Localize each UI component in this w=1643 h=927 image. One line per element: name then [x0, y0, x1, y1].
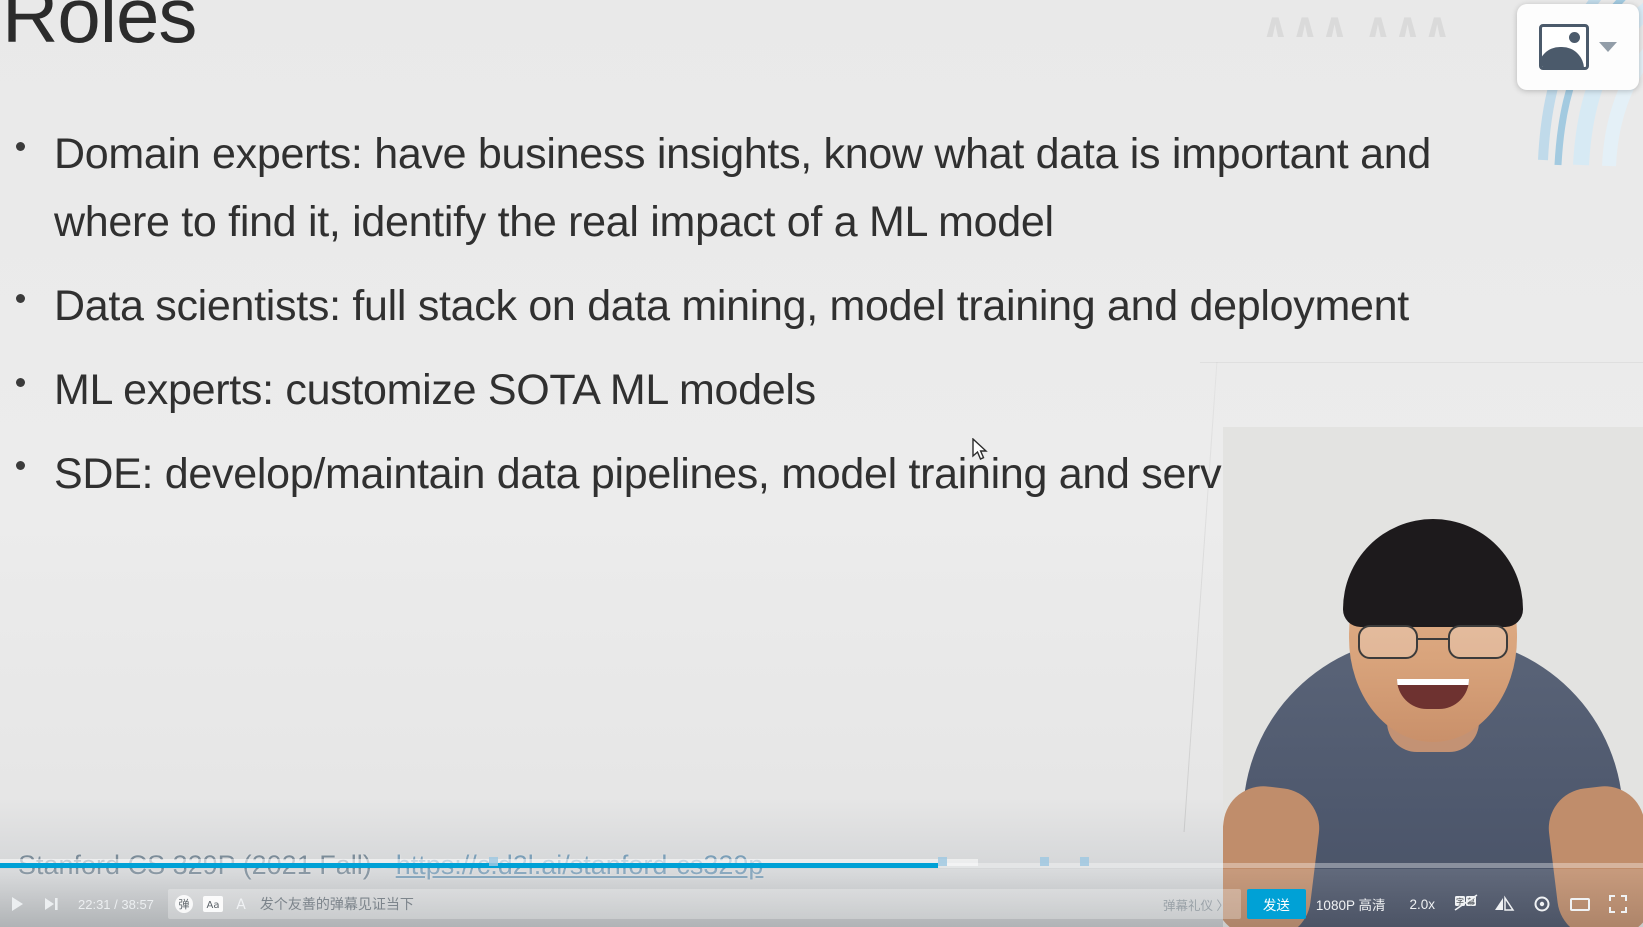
settings-button[interactable]	[1525, 881, 1559, 927]
progress-bar[interactable]	[0, 857, 1643, 869]
svg-text:弹: 弹	[178, 897, 189, 911]
fullscreen-button[interactable]	[1601, 881, 1635, 927]
chevron-down-icon[interactable]	[1599, 42, 1617, 52]
video-stage: ∧∧∧ ∧∧∧ Roles Domain experts: have busin…	[0, 0, 1643, 927]
bullet-text: Domain experts: have business insights, …	[54, 130, 1431, 246]
widescreen-button[interactable]	[1563, 881, 1597, 927]
player-controls: 22:31 / 38:57 弹 Aa A 弹幕礼仪 〉 发送 1080P 高清 …	[0, 881, 1643, 927]
list-item: Data scientists: full stack on data mini…	[8, 273, 1504, 341]
bullet-dot-icon	[16, 142, 25, 151]
image-icon-sun	[1569, 32, 1580, 43]
presenter-glasses	[1358, 625, 1508, 655]
time-display: 22:31 / 38:57	[68, 897, 162, 912]
send-danmaku-button[interactable]: 发送	[1247, 889, 1306, 919]
image-icon[interactable]	[1539, 24, 1589, 70]
bullet-text: ML experts: customize SOTA ML models	[54, 366, 816, 414]
danmaku-etiquette-link[interactable]: 弹幕礼仪 〉	[1163, 895, 1235, 914]
progress-played	[0, 863, 938, 868]
player-control-bar: 22:31 / 38:57 弹 Aa A 弹幕礼仪 〉 发送 1080P 高清 …	[0, 869, 1643, 927]
speed-selector[interactable]: 2.0x	[1399, 897, 1445, 912]
next-button[interactable]	[34, 881, 68, 927]
quality-selector[interactable]: 1080P 高清	[1306, 894, 1396, 914]
bullet-text: Data scientists: full stack on data mini…	[54, 282, 1409, 330]
list-item: Domain experts: have business insights, …	[8, 121, 1504, 257]
svg-text:Aa: Aa	[206, 900, 219, 911]
play-button[interactable]	[0, 881, 34, 927]
subtitle-toggle[interactable]: 字 幕	[1449, 881, 1483, 927]
danmaku-marker	[489, 857, 498, 866]
bullet-dot-icon	[16, 378, 25, 387]
image-icon-hill	[1539, 47, 1584, 69]
page-title: Roles	[0, 0, 1530, 49]
danmaku-marker	[938, 857, 947, 866]
mirror-toggle[interactable]	[1487, 881, 1521, 927]
bullet-dot-icon	[16, 461, 25, 470]
svg-text:A: A	[236, 897, 246, 913]
player-right-controls: 1080P 高清 2.0x 字 幕	[1306, 881, 1643, 927]
presenter-video	[1223, 427, 1643, 927]
danmaku-marker	[1080, 857, 1089, 866]
danmaku-marker	[1040, 857, 1049, 866]
danmaku-input-wrap[interactable]: 弹 Aa A 弹幕礼仪 〉	[168, 889, 1241, 919]
danmaku-format-icon[interactable]: Aa	[202, 881, 224, 927]
danmaku-style-icon[interactable]: 弹	[174, 881, 194, 927]
image-popup-panel[interactable]	[1517, 4, 1639, 90]
bullet-dot-icon	[16, 294, 25, 303]
list-item: ML experts: customize SOTA ML models	[8, 357, 1504, 425]
danmaku-color-icon[interactable]: A	[232, 881, 250, 927]
danmaku-input[interactable]	[258, 895, 1155, 913]
